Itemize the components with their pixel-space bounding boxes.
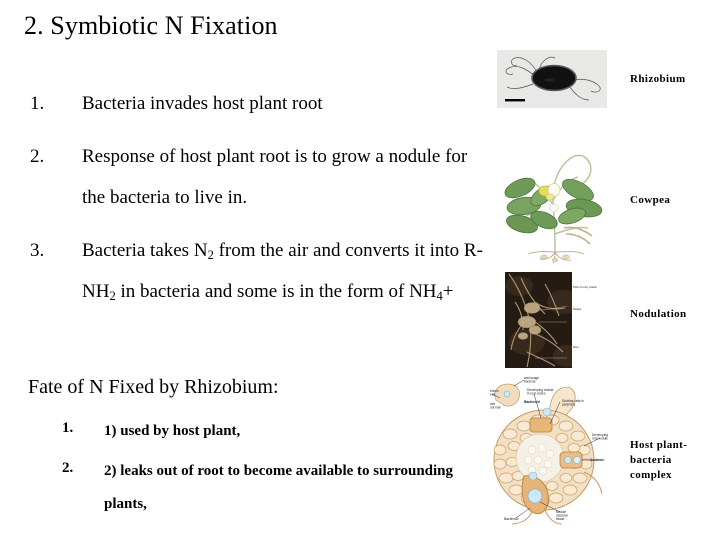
host-plant-bacteria-complex-caption: Host plant- bacteria complex (630, 438, 716, 483)
host-plant-bacteria-complex-svg: anchorage bacteria ection ead cter oot h… (490, 372, 612, 532)
list-item-text: Response of host plant root is to grow a… (82, 136, 488, 218)
main-numbered-list: 1. Bacteria invades host plant root 2. R… (28, 83, 488, 324)
svg-text:tissue: tissue (556, 517, 565, 521)
list-item: 1. Bacteria invades host plant root (28, 83, 488, 124)
slide-canvas: 2. Symbiotic N Fixation 1. Bacteria inva… (0, 0, 720, 540)
cowpea-caption: Cowpea (630, 193, 670, 208)
nodulation-annotation: Nodule (573, 308, 581, 311)
nodulation-annotation: Root (573, 346, 578, 349)
cowpea-illustration-image (498, 144, 614, 264)
nodulation-caption: Nodulation (630, 307, 687, 322)
list-item: 1. 1) used by host plant, (62, 415, 482, 448)
svg-text:oot hair: oot hair (490, 406, 502, 410)
list-item-text: 2) leaks out of root to become available… (104, 455, 482, 521)
svg-text:Bacteroid: Bacteroid (590, 458, 604, 462)
list-item-text: 1) used by host plant, (104, 415, 482, 448)
list-item-number: 2. (30, 136, 70, 177)
caption-line: complex (630, 468, 716, 483)
list-item-text: Bacteria takes N2 from the air and conve… (82, 230, 488, 312)
fate-heading: Fate of N Fixed by Rhizobium: (28, 374, 279, 400)
caption-line: Host plant- (630, 438, 716, 453)
nodulation-photo-image (505, 272, 579, 368)
list-item-number: 3. (30, 230, 70, 271)
svg-text:Bacteroid: Bacteroid (524, 400, 540, 404)
svg-text:ead: ead (490, 393, 496, 397)
list-item-number: 1. (62, 415, 96, 441)
rhizobium-caption: Rhizobium (630, 72, 686, 87)
list-item: 2. Response of host plant root is to gro… (28, 136, 488, 218)
nodulation-photo-svg (505, 272, 579, 368)
list-item-number: 2. (62, 455, 96, 481)
list-item-text: Bacteria invades host plant root (82, 83, 488, 124)
rhizobium-micrograph-image (497, 50, 607, 108)
list-item-number: 1. (30, 83, 70, 124)
svg-text:root nodule: root nodule (592, 437, 608, 441)
nodulation-annotation-panel: Point of entry nodule Nodule Root (572, 272, 612, 368)
rhizobium-micrograph-svg (497, 50, 607, 108)
list-item: 3. Bacteria takes N2 from the air and co… (28, 230, 488, 312)
fate-sub-list: 1. 1) used by host plant, 2. 2) leaks ou… (62, 415, 482, 528)
list-item: 2. 2) leaks out of root to become availa… (62, 455, 482, 521)
svg-text:periphery: periphery (562, 403, 576, 407)
cowpea-illustration-svg (498, 144, 614, 264)
svg-text:bacteria: bacteria (524, 380, 536, 384)
caption-line: bacteria (630, 453, 716, 468)
svg-text:in root cortex: in root cortex (527, 392, 546, 396)
page-title: 2. Symbiotic N Fixation (24, 10, 278, 42)
svg-text:Bacteroid: Bacteroid (504, 517, 518, 521)
nodulation-annotation: Point of entry nodule (573, 286, 597, 289)
host-plant-bacteria-complex-image: anchorage bacteria ection ead cter oot h… (490, 372, 612, 532)
